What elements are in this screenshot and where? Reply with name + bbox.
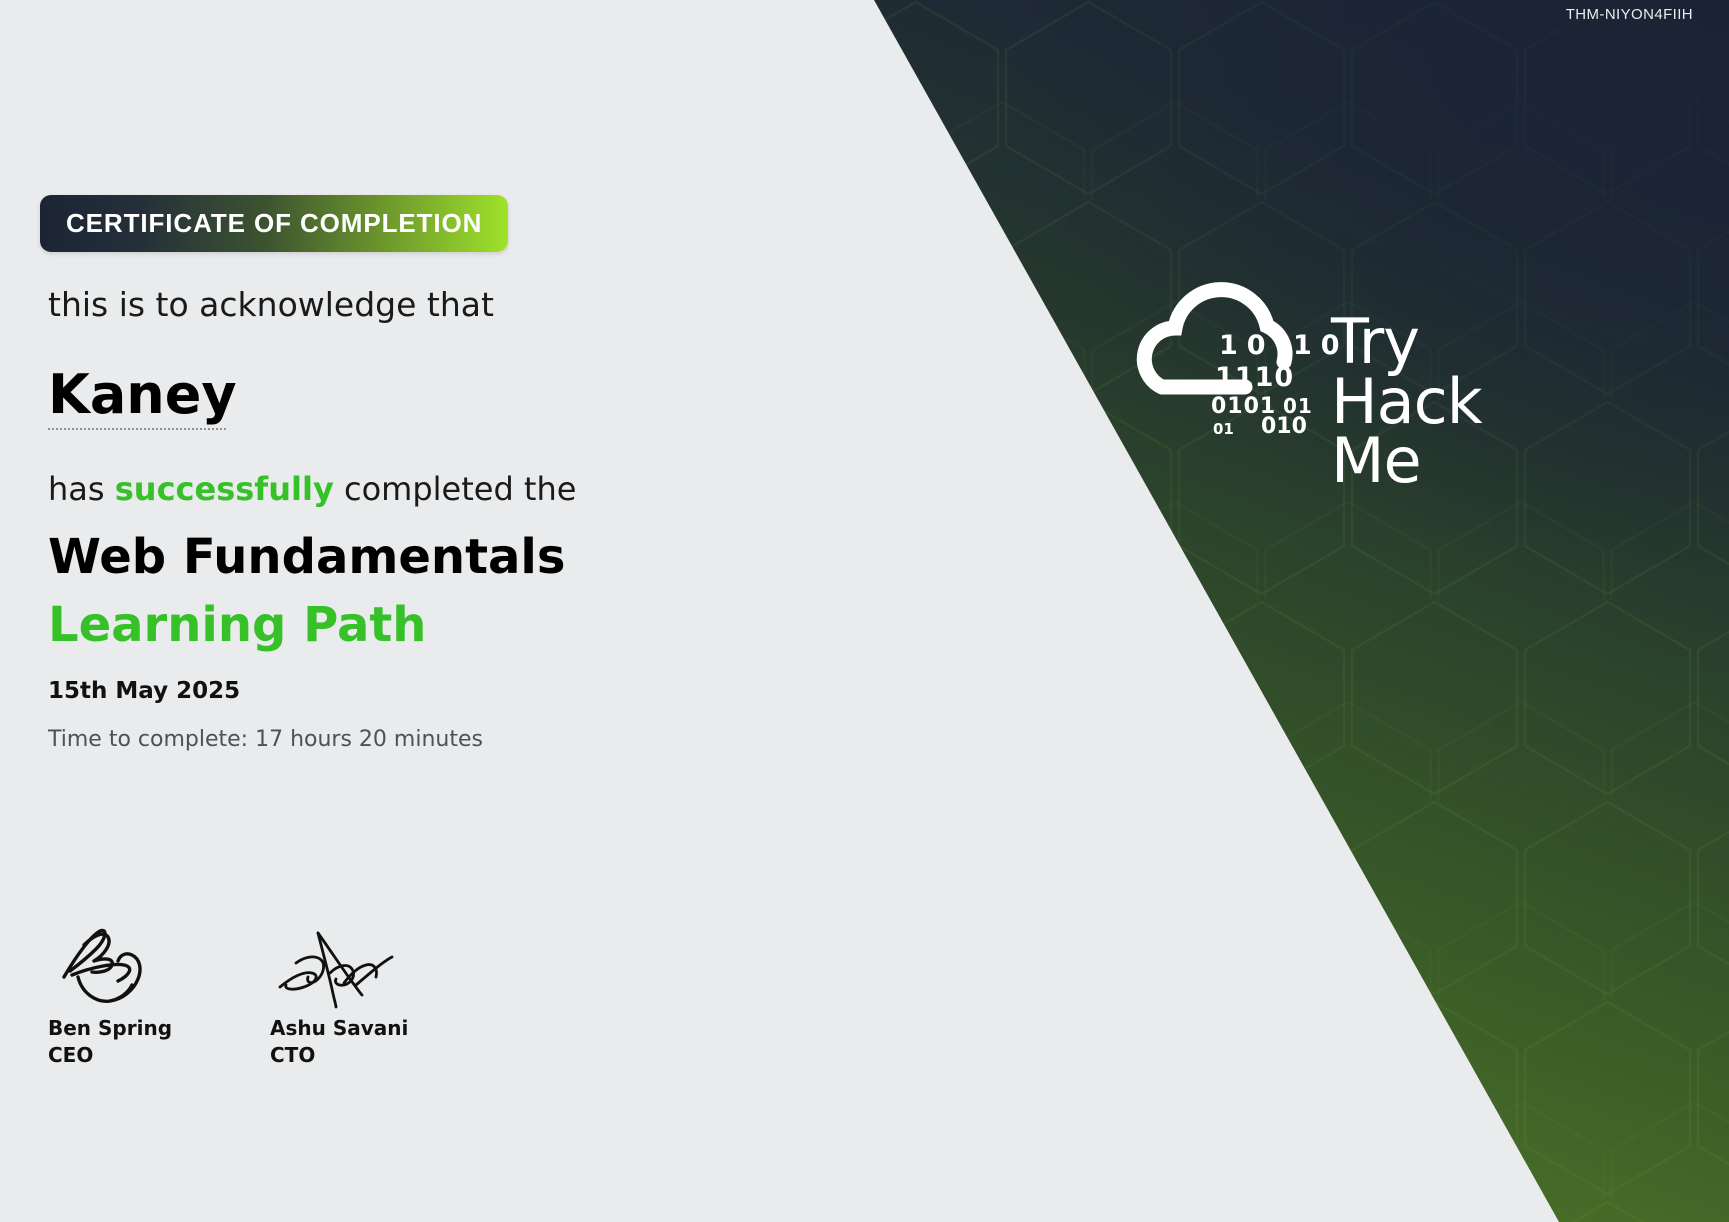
recipient-underline <box>48 428 226 430</box>
course-kind: Learning Path <box>48 598 426 654</box>
binary-digits: 10 10 1110 0101 01 01 010 <box>1213 332 1323 442</box>
completion-prefix: has <box>48 470 115 508</box>
brand-panel <box>829 0 1729 1222</box>
binary-row-4a: 01 <box>1213 422 1234 437</box>
ben-spring-signature-icon <box>48 915 270 1015</box>
signatory-role: CTO <box>270 1042 492 1069</box>
brand-wordmark: Try Hack Me <box>1331 312 1482 491</box>
certificate-id: THM-NIYON4FIIH <box>1566 6 1693 23</box>
acknowledge-line: this is to acknowledge that <box>48 285 494 324</box>
certificate-content: CERTIFICATE OF COMPLETION this is to ack… <box>48 0 868 1222</box>
course-title: Web Fundamentals <box>48 530 565 586</box>
brand-line-1: Try <box>1331 312 1482 372</box>
completion-duration: Time to complete: 17 hours 20 minutes <box>48 727 483 752</box>
signatory-block: Ben Spring CEO <box>48 915 270 1069</box>
cloud-icon: 10 10 1110 0101 01 01 010 <box>1118 250 1323 450</box>
binary-row-2: 1110 <box>1215 364 1294 391</box>
signatory-role: CEO <box>48 1042 270 1069</box>
binary-row-1: 10 10 <box>1219 332 1349 359</box>
brand-line-3: Me <box>1331 431 1482 491</box>
signatory-name: Ashu Savani <box>270 1015 492 1042</box>
certificate-page: THM-NIYON4FIIH 10 10 1110 0101 01 01 010… <box>0 0 1729 1222</box>
recipient-block: Kaney <box>48 365 237 430</box>
issue-date: 15th May 2025 <box>48 678 240 704</box>
signatory-block: Ashu Savani CTO <box>270 915 492 1069</box>
ribbon-label: CERTIFICATE OF COMPLETION <box>66 208 482 239</box>
signature-row: Ben Spring CEO <box>48 915 492 1069</box>
completion-highlight: successfully <box>115 470 334 508</box>
signatory-name: Ben Spring <box>48 1015 270 1042</box>
certificate-ribbon: CERTIFICATE OF COMPLETION <box>40 195 508 252</box>
panel-gradient <box>829 0 1729 1222</box>
ashu-savani-signature-icon <box>270 915 492 1015</box>
recipient-name: Kaney <box>48 365 237 424</box>
brand-line-2: Hack <box>1331 372 1482 432</box>
binary-row-3b: 01 <box>1283 396 1313 416</box>
binary-row-4b: 010 <box>1261 416 1307 438</box>
completion-suffix: completed the <box>334 470 577 508</box>
completion-line: has successfully completed the <box>48 470 576 508</box>
tryhackme-logo: 10 10 1110 0101 01 01 010 Try Hack Me <box>1118 250 1518 480</box>
